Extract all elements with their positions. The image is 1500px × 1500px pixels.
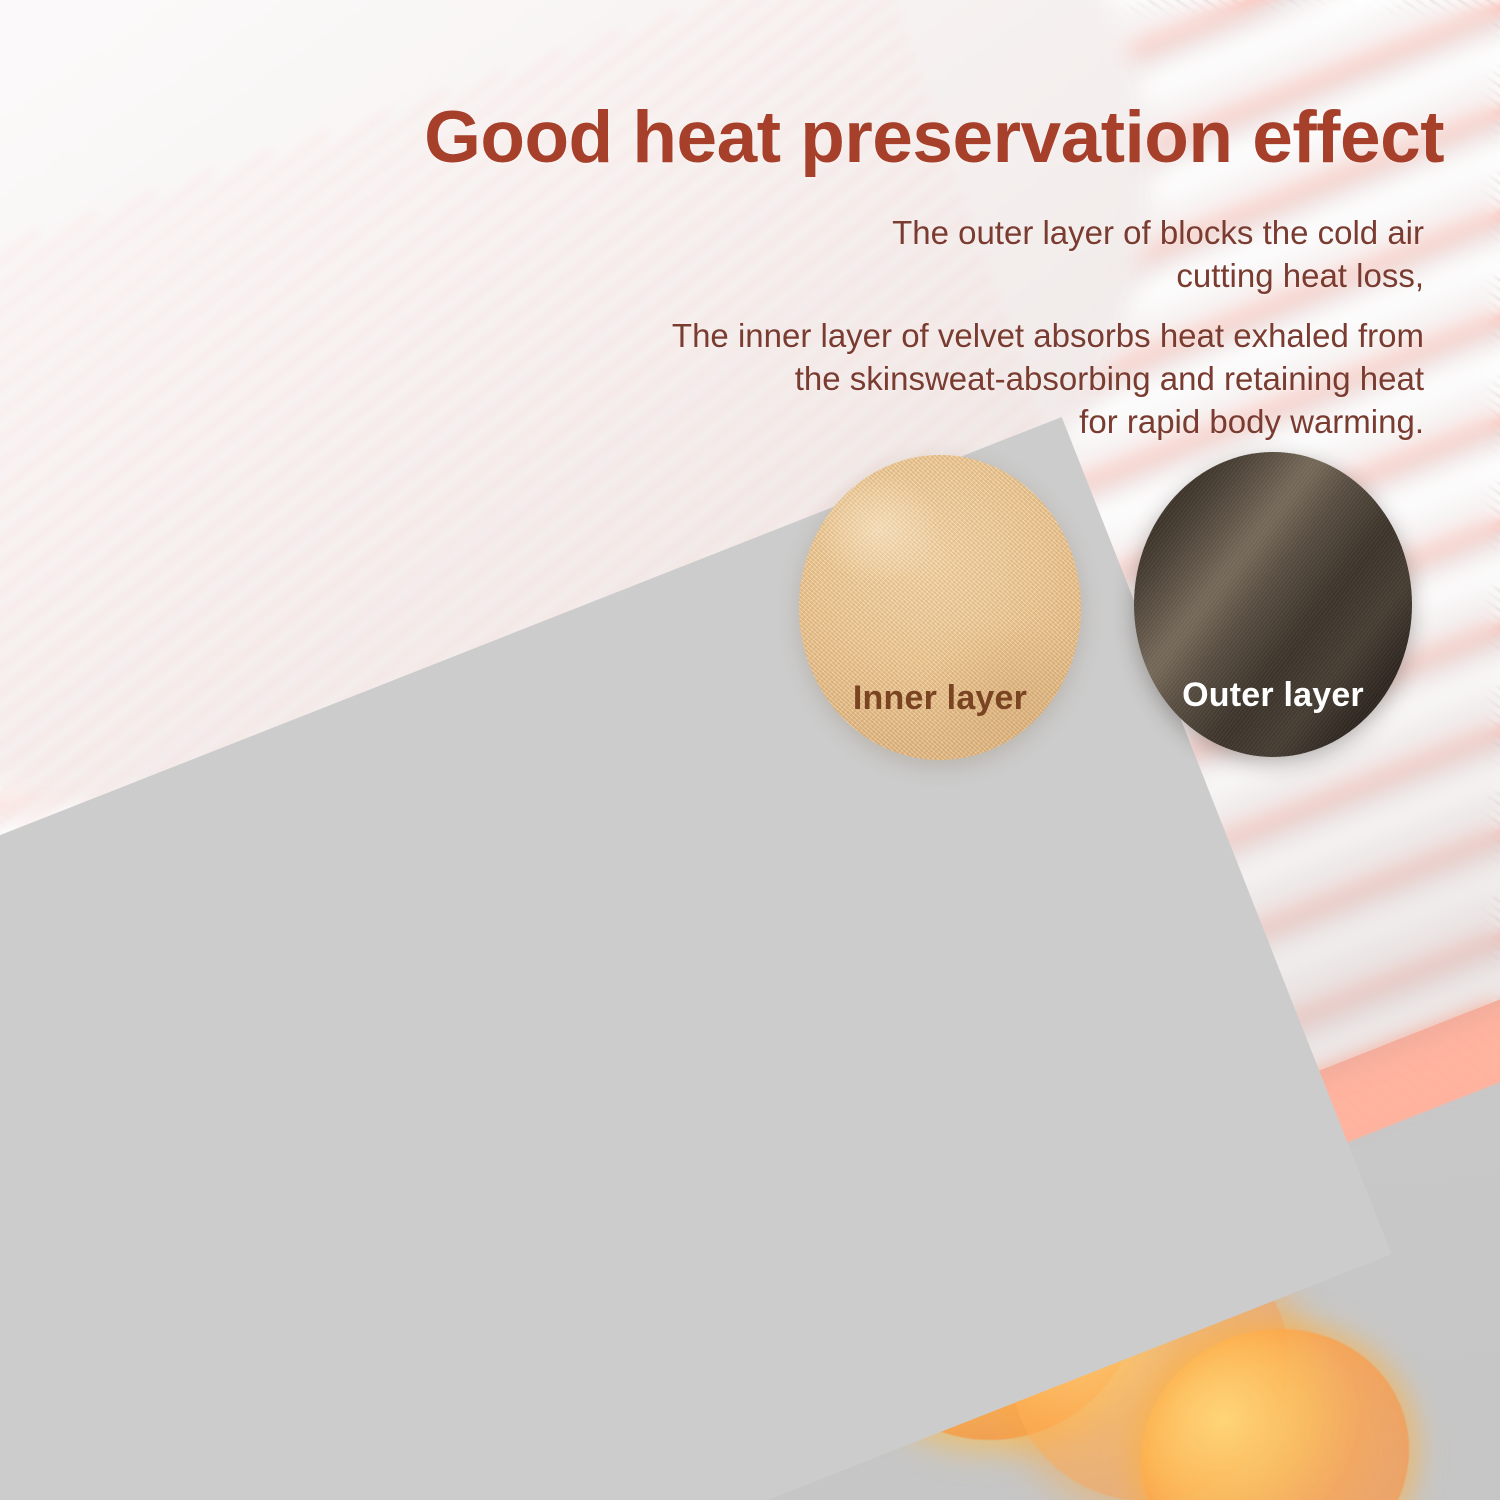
product-feature-image: Good heat preservation effect The outer …: [0, 0, 1500, 1500]
inner-layer-swatch: Inner layer: [799, 455, 1081, 760]
outer-layer-swatch: Outer layer: [1134, 452, 1412, 757]
description-paragraph-1: The outer layer of blocks the cold air c…: [724, 212, 1424, 298]
inner-layer-label: Inner layer: [853, 679, 1027, 760]
outer-layer-label: Outer layer: [1182, 676, 1364, 757]
description-paragraph-2: The inner layer of velvet absorbs heat e…: [564, 315, 1424, 444]
page-title: Good heat preservation effect: [0, 96, 1444, 179]
